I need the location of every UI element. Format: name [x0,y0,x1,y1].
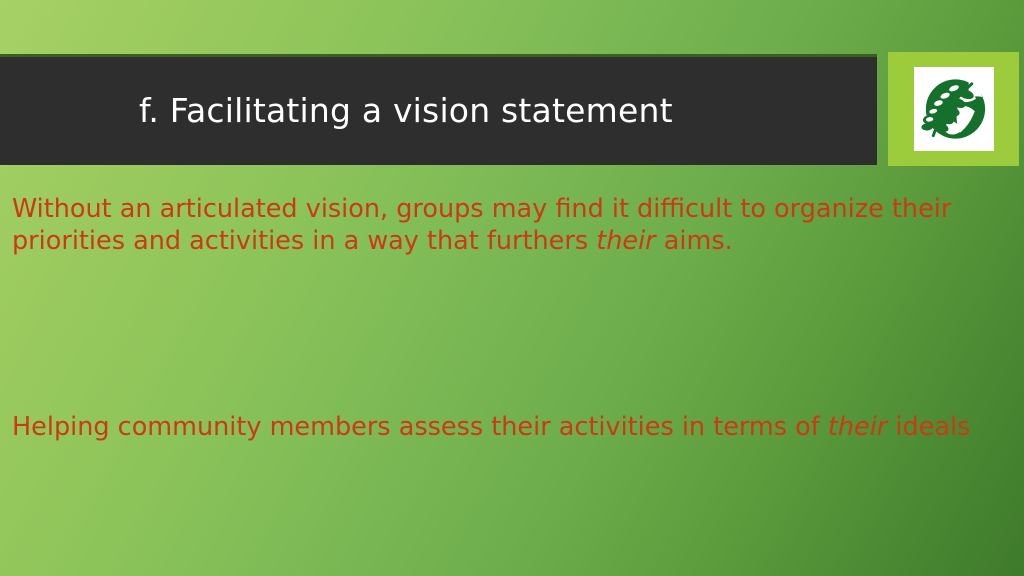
paragraph-2-emphasis: their [828,412,887,442]
paragraph-2-tail: ideals [887,412,970,442]
paragraph-1-emphasis: their [596,226,655,256]
paragraph-1-tail: aims. [656,226,733,256]
slide-title-bar: f. Facilitating a vision statement [0,54,877,165]
paragraph-2-lead: Helping community members assess their a… [12,412,828,442]
body-paragraph-1: Without an articulated vision, groups ma… [12,193,987,257]
logo-container [888,52,1019,166]
globe-fern-logo-icon [917,72,991,146]
presentation-slide: f. Facilitating a vision statement [0,0,1024,576]
paragraph-1-lead: Without an articulated vision, groups ma… [12,194,951,256]
body-paragraph-2: Helping community members assess their a… [12,411,987,443]
slide-title: f. Facilitating a vision statement [0,93,673,129]
logo-plate [914,67,994,151]
